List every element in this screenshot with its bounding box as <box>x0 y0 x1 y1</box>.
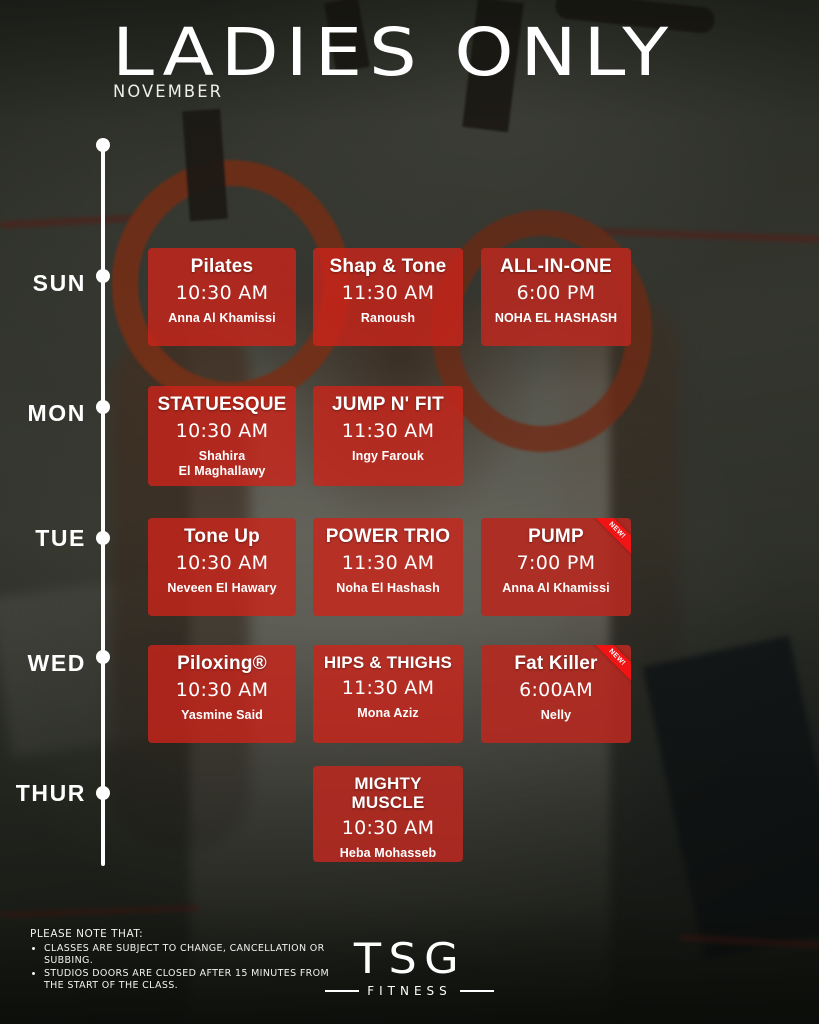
class-card[interactable]: STATUESQUE10:30 AMShahiraEl Maghallawy <box>148 386 296 486</box>
class-name: Piloxing® <box>154 653 290 674</box>
class-time: 10:30 AM <box>154 283 290 304</box>
class-card-content: STATUESQUE10:30 AMShahiraEl Maghallawy <box>154 394 290 479</box>
logo-subtitle: FITNESS <box>367 984 452 998</box>
class-coach: ShahiraEl Maghallawy <box>154 449 290 479</box>
ladies-only-schedule-poster: LADIES ONLY NOVEMBER SUNPilates10:30 AMA… <box>0 0 819 1024</box>
class-name: POWER TRIO <box>319 526 457 547</box>
class-card[interactable]: PUMP7:00 PMAnna Al KhamissiNEW! <box>481 518 631 616</box>
class-name: STATUESQUE <box>154 394 290 415</box>
class-time: 10:30 AM <box>154 553 290 574</box>
class-name: ALL-IN-ONE <box>487 256 625 277</box>
class-name: MIGHTY MUSCLE <box>319 774 457 812</box>
class-card[interactable]: JUMP N' FIT11:30 AMIngy Farouk <box>313 386 463 486</box>
class-coach: Anna Al Khamissi <box>487 581 625 596</box>
class-name: Tone Up <box>154 526 290 547</box>
new-badge: NEW! <box>591 518 631 558</box>
class-coach: Yasmine Said <box>154 708 290 723</box>
class-coach: Anna Al Khamissi <box>154 311 290 326</box>
class-coach: Heba Mohasseb <box>319 846 457 861</box>
class-name: JUMP N' FIT <box>319 394 457 415</box>
class-coach: Neveen El Hawary <box>154 581 290 596</box>
class-time: 11:30 AM <box>319 421 457 442</box>
class-card-content: Shap & Tone11:30 AMRanoush <box>319 256 457 326</box>
day-label-sun: SUN <box>0 270 86 297</box>
class-card-content: POWER TRIO11:30 AMNoha El Hashash <box>319 526 457 596</box>
class-card[interactable]: HIPS & THIGHS11:30 AMMona Aziz <box>313 645 463 743</box>
class-card[interactable]: Pilates10:30 AMAnna Al Khamissi <box>148 248 296 346</box>
class-name: HIPS & THIGHS <box>319 653 457 672</box>
class-card-content: Piloxing®10:30 AMYasmine Said <box>154 653 290 723</box>
class-coach: Ranoush <box>319 311 457 326</box>
class-name: Pilates <box>154 256 290 277</box>
class-card-content: ALL-IN-ONE6:00 PMNOHA EL HASHASH <box>487 256 625 326</box>
class-coach: NOHA EL HASHASH <box>487 311 625 326</box>
class-card-content: Pilates10:30 AMAnna Al Khamissi <box>154 256 290 326</box>
logo-subtitle-row: FITNESS <box>0 984 819 998</box>
class-card-content: HIPS & THIGHS11:30 AMMona Aziz <box>319 653 457 721</box>
class-time: 10:30 AM <box>154 421 290 442</box>
logo-wordmark: TSG <box>353 938 465 980</box>
class-coach: Noha El Hashash <box>319 581 457 596</box>
class-card-content: MIGHTY MUSCLE10:30 AMHeba Mohasseb <box>319 774 457 861</box>
class-coach: Mona Aziz <box>319 706 457 721</box>
class-coach: Nelly <box>487 708 625 723</box>
day-label-mon: MON <box>0 400 86 427</box>
class-card[interactable]: Shap & Tone11:30 AMRanoush <box>313 248 463 346</box>
schedule-grid: SUNPilates10:30 AMAnna Al KhamissiShap &… <box>0 0 819 1024</box>
class-card[interactable]: Tone Up10:30 AMNeveen El Hawary <box>148 518 296 616</box>
class-card[interactable]: MIGHTY MUSCLE10:30 AMHeba Mohasseb <box>313 766 463 862</box>
new-badge-label: NEW! <box>591 518 631 558</box>
class-coach: Ingy Farouk <box>319 449 457 464</box>
class-card[interactable]: Piloxing®10:30 AMYasmine Said <box>148 645 296 743</box>
class-card[interactable]: ALL-IN-ONE6:00 PMNOHA EL HASHASH <box>481 248 631 346</box>
day-label-wed: WED <box>0 650 86 677</box>
class-time: 11:30 AM <box>319 283 457 304</box>
class-time: 11:30 AM <box>319 678 457 699</box>
class-card[interactable]: POWER TRIO11:30 AMNoha El Hashash <box>313 518 463 616</box>
tsg-logo: TSG FITNESS <box>0 938 819 998</box>
class-time: 11:30 AM <box>319 553 457 574</box>
day-label-tue: TUE <box>0 525 86 552</box>
class-time: 10:30 AM <box>319 818 457 839</box>
logo-dash-right <box>460 990 494 992</box>
logo-dash-left <box>325 990 359 992</box>
day-label-thur: THUR <box>0 780 86 807</box>
class-name: Shap & Tone <box>319 256 457 277</box>
new-badge: NEW! <box>591 645 631 685</box>
class-card[interactable]: Fat Killer6:00AMNellyNEW! <box>481 645 631 743</box>
class-time: 10:30 AM <box>154 680 290 701</box>
new-badge-label: NEW! <box>591 645 631 685</box>
class-card-content: Tone Up10:30 AMNeveen El Hawary <box>154 526 290 596</box>
class-card-content: JUMP N' FIT11:30 AMIngy Farouk <box>319 394 457 464</box>
class-time: 6:00 PM <box>487 283 625 304</box>
